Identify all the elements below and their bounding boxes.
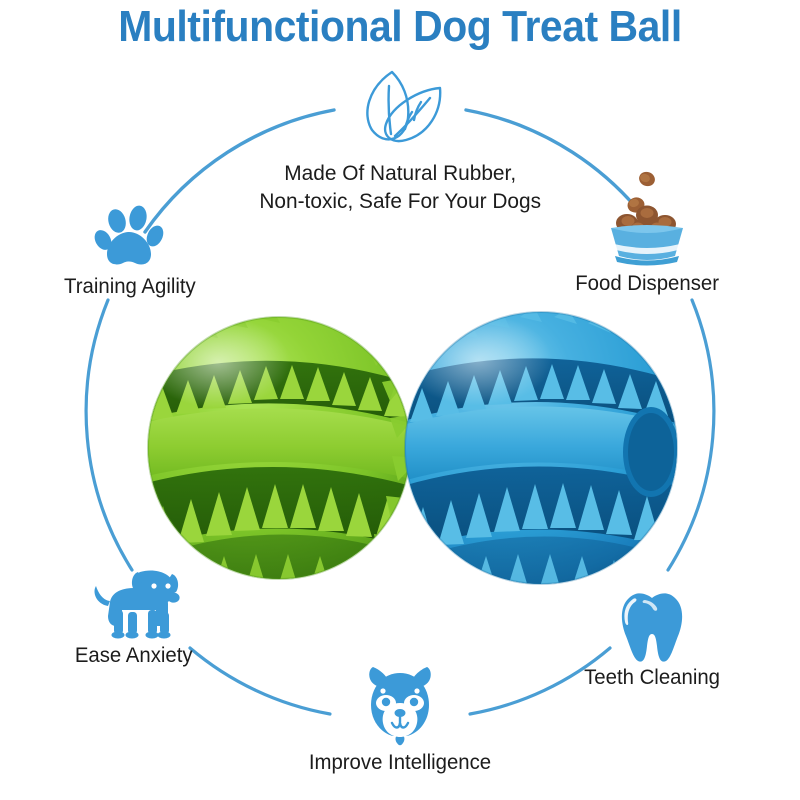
green-treat-ball [130, 308, 441, 590]
leaf-icon [348, 66, 452, 152]
feature-improve-intelligence: Improve Intelligence [280, 663, 520, 776]
paw-print-icon [94, 205, 166, 273]
dog-food-bowl-icon [591, 170, 703, 270]
standing-dog-icon [86, 562, 182, 642]
feature-teeth-cleaning: Teeth Cleaning [532, 588, 772, 691]
feature-label-improve-intelligence: Improve Intelligence [309, 751, 491, 776]
feature-training-agility: Training Agility [10, 205, 250, 300]
feature-label-ease-anxiety: Ease Anxiety [75, 644, 193, 669]
feature-label-natural-rubber: Made Of Natural Rubber, Non-toxic, Safe … [259, 160, 541, 216]
page-title: Multifunctional Dog Treat Ball [28, 2, 772, 53]
tooth-icon [615, 588, 689, 666]
product-balls [0, 300, 800, 590]
blue-treat-ball [392, 307, 694, 590]
dog-face-icon [355, 663, 445, 747]
feature-ease-anxiety: Ease Anxiety [14, 562, 254, 669]
feature-food-dispenser: Food Dispenser [527, 170, 767, 297]
feature-label-teeth-cleaning: Teeth Cleaning [584, 666, 720, 691]
feature-natural-rubber: Made Of Natural Rubber, Non-toxic, Safe … [235, 66, 565, 216]
feature-label-food-dispenser: Food Dispenser [575, 272, 719, 297]
feature-label-training-agility: Training Agility [64, 275, 196, 300]
